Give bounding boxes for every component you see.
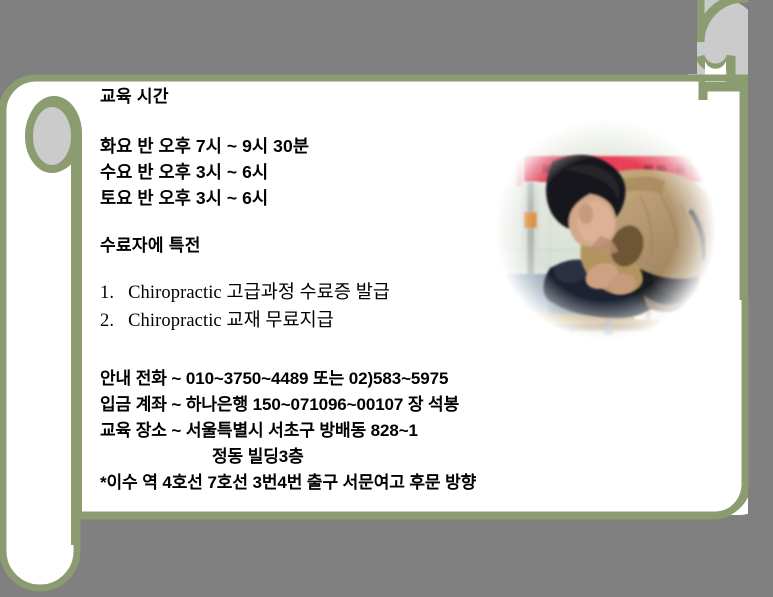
left-tail-fill [5,500,75,587]
spacer [100,107,720,134]
bottom-gray-mask [0,518,773,597]
heading-benefits: 수료자에 특전 [100,235,720,256]
benefit-item-1: 1.Chiropractic 고급과정 수료증 발급 [100,279,720,308]
contact-venue: 교육 장소 ~ 서울특별시 서초구 방배동 828~1 [100,418,720,444]
contact-bank-account: 입금 계좌 ~ 하나은행 150~071096~00107 장 석봉 [100,392,720,418]
spacer [100,211,720,235]
benefit-item-2: 2.Chiropractic 교재 무료지급 [100,307,720,336]
benefit-1-text: Chiropractic 고급과정 수료증 발급 [128,283,390,303]
schedule-line-2: 수요 반 오후 3시 ~ 6시 [100,160,720,186]
top-gray-mask [0,0,773,78]
slide-canvas: 교육 시간 화요 반 오후 7시 ~ 9시 30분 수요 반 오후 3시 ~ 6… [0,0,773,597]
benefit-1-number: 1. [100,283,114,303]
schedule-line-3: 토요 반 오후 3시 ~ 6시 [100,186,720,212]
contact-venue-line2: 정동 빌딩3층 [100,444,720,470]
spacer [100,257,720,279]
slide-text-content: 교육 시간 화요 반 오후 7시 ~ 9시 30분 수요 반 오후 3시 ~ 6… [100,86,720,496]
benefit-2-text: Chiropractic 교재 무료지급 [128,311,334,331]
schedule-line-1: 화요 반 오후 7시 ~ 9시 30분 [100,134,720,160]
heading-schedule: 교육 시간 [100,86,720,107]
contact-directions: *이수 역 4호선 7호선 3번4번 출구 서문여고 후문 방향 [100,470,720,496]
benefit-2-number: 2. [100,311,114,331]
spacer [100,336,720,366]
right-gray-mask [752,0,773,597]
contact-phone: 안내 전화 ~ 010~3750~4489 또는 02)583~5975 [100,366,720,392]
